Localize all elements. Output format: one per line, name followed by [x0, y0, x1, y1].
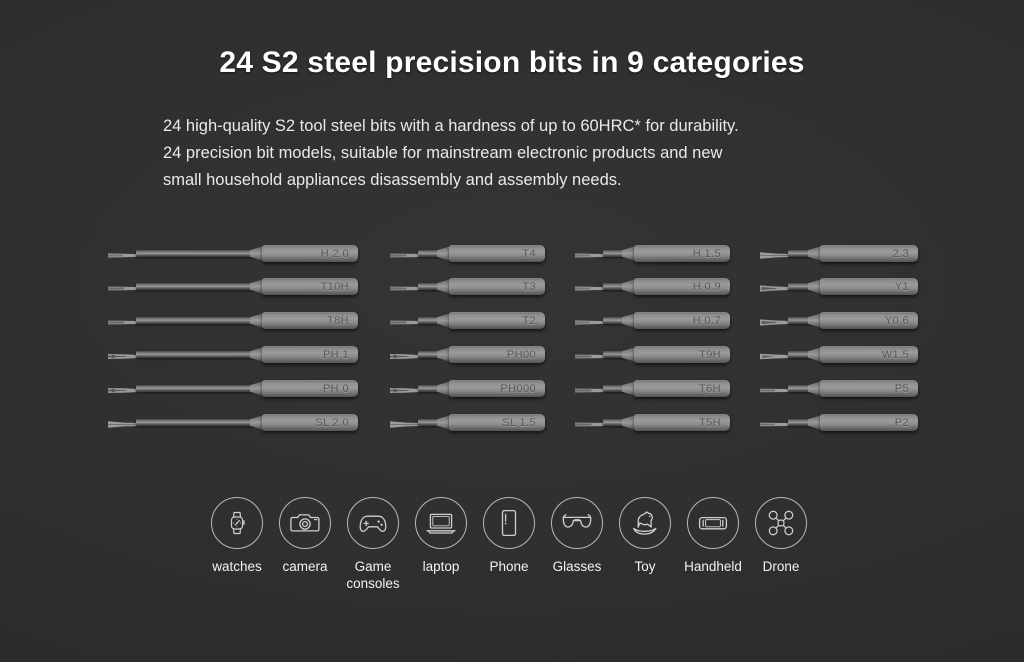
bit-hex-shank: H 2.0: [262, 245, 358, 262]
screwdriver-bit: H 0.7: [575, 312, 730, 329]
screwdriver-bit: T10H: [108, 278, 358, 295]
category-item-camera: camera: [275, 497, 335, 575]
phillips-tip-icon: [390, 383, 420, 394]
bit-hex-shank: T2: [449, 312, 545, 329]
screwdriver-bit: PH 0: [108, 380, 358, 397]
bit-hex-shank: T9H: [634, 346, 730, 363]
category-item-watches: watches: [207, 497, 267, 575]
phillips-tip-icon: [108, 383, 138, 394]
pentalobe-tip-icon: [760, 417, 790, 428]
bit-size-label: T2: [522, 315, 536, 327]
bit-hex-shank: 2.3: [820, 245, 918, 262]
bit-hex-shank: Y0.6: [820, 312, 918, 329]
bit-size-label: Y1: [895, 281, 909, 293]
screwdriver-bit: PH00: [390, 346, 545, 363]
triangle-tip-icon: [760, 349, 790, 360]
bit-hex-shank: SL 2.0: [262, 414, 358, 431]
screwdriver-bit: T8H: [108, 312, 358, 329]
screwdriver-bit: P2: [760, 414, 918, 431]
screwdriver-bit: T6H: [575, 380, 730, 397]
bit-hex-shank: W1.5: [820, 346, 918, 363]
category-label: Glasses: [547, 558, 607, 575]
bit-hex-shank: T4: [449, 245, 545, 262]
bit-size-label: H 1.5: [693, 248, 721, 260]
torx-tip-icon: [575, 349, 605, 360]
bit-size-label: 2.3: [893, 248, 910, 260]
screwdriver-bit: T5H: [575, 414, 730, 431]
description-paragraph: 24 high-quality S2 tool steel bits with …: [163, 113, 893, 194]
screwdriver-bit: 2.3: [760, 245, 918, 262]
bit-size-label: Y0.6: [885, 315, 909, 327]
category-label: Handheld: [683, 558, 743, 575]
category-item-toy: Toy: [615, 497, 675, 575]
screwdriver-bit: PH 1: [108, 346, 358, 363]
category-label: Toy: [615, 558, 675, 575]
bits-grid: H 2.0 T10H T8H PH 1 PH 0 SL 2.0 T4 T3 T2: [0, 228, 1024, 428]
description-line-1: 24 high-quality S2 tool steel bits with …: [163, 113, 893, 140]
bit-size-label: T9H: [699, 349, 721, 361]
bit-hex-shank: PH00: [449, 346, 545, 363]
screwdriver-bit: W1.5: [760, 346, 918, 363]
bit-hex-shank: PH 0: [262, 380, 358, 397]
tri-wing-tip-icon: [760, 315, 790, 326]
torx-tip-icon: [575, 383, 605, 394]
phillips-tip-icon: [390, 349, 420, 360]
tri-wing-tip-icon: [760, 281, 790, 292]
torx-tip-icon: [108, 281, 138, 292]
screwdriver-bit: H 0.9: [575, 278, 730, 295]
drone-icon: [755, 497, 807, 549]
screwdriver-bit: H 1.5: [575, 245, 730, 262]
hex-tip-icon: [575, 248, 605, 259]
screwdriver-bit: P5: [760, 380, 918, 397]
bit-size-label: PH 0: [323, 383, 349, 395]
category-item-handheld: Handheld: [683, 497, 743, 575]
bit-size-label: PH 1: [323, 349, 349, 361]
screwdriver-bit: T2: [390, 312, 545, 329]
gamepad-icon: [347, 497, 399, 549]
camera-icon: [279, 497, 331, 549]
bit-size-label: H 0.7: [693, 315, 721, 327]
screwdriver-bit: PH000: [390, 380, 545, 397]
bit-size-label: PH00: [507, 349, 536, 361]
bit-hex-shank: SL 1.5: [449, 414, 545, 431]
category-label: laptop: [411, 558, 471, 575]
bit-size-label: H 0.9: [693, 281, 721, 293]
bit-size-label: P5: [895, 383, 909, 395]
category-label: Game consoles: [336, 558, 410, 592]
category-label: Phone: [479, 558, 539, 575]
bit-hex-shank: PH 1: [262, 346, 358, 363]
hex-tip-icon: [575, 281, 605, 292]
bit-hex-shank: H 0.9: [634, 278, 730, 295]
bit-size-label: T8H: [327, 315, 349, 327]
torx-tip-icon: [108, 315, 138, 326]
screwdriver-bit: H 2.0: [108, 245, 358, 262]
hex-tip-icon: [108, 248, 138, 259]
bit-hex-shank: H 1.5: [634, 245, 730, 262]
page-title: 24 S2 steel precision bits in 9 categori…: [0, 46, 1024, 80]
pentalobe-tip-icon: [760, 383, 790, 394]
torx-tip-icon: [575, 417, 605, 428]
bit-size-label: T5H: [699, 417, 721, 429]
torx-tip-icon: [390, 248, 420, 259]
category-item-drone: Drone: [751, 497, 811, 575]
bit-size-label: SL 2.0: [315, 417, 349, 429]
hex-tip-icon: [575, 315, 605, 326]
bit-hex-shank: PH000: [449, 380, 545, 397]
description-line-2: 24 precision bit models, suitable for ma…: [163, 140, 893, 167]
category-label: Drone: [751, 558, 811, 575]
screwdriver-bit: SL 2.0: [108, 414, 358, 431]
slotted-tip-icon: [108, 417, 138, 428]
phone-icon: [483, 497, 535, 549]
bit-hex-shank: T6H: [634, 380, 730, 397]
bit-hex-shank: Y1: [820, 278, 918, 295]
phillips-tip-icon: [108, 349, 138, 360]
screwdriver-bit: SL 1.5: [390, 414, 545, 431]
bit-hex-shank: H 0.7: [634, 312, 730, 329]
category-icons-row: watches camera Game consoles laptop Phon…: [0, 497, 1024, 607]
category-label: watches: [207, 558, 267, 575]
screwdriver-bit: Y1: [760, 278, 918, 295]
bit-size-label: SL 1.5: [502, 417, 536, 429]
slotted-tip-icon: [760, 248, 790, 259]
watch-icon: [211, 497, 263, 549]
category-item-phone: Phone: [479, 497, 539, 575]
bit-size-label: T3: [522, 281, 536, 293]
slotted-tip-icon: [390, 417, 420, 428]
torx-tip-icon: [390, 281, 420, 292]
bit-size-label: T10H: [321, 281, 350, 293]
bit-size-label: PH000: [500, 383, 536, 395]
glasses-icon: [551, 497, 603, 549]
screwdriver-bit: T4: [390, 245, 545, 262]
bit-size-label: H 2.0: [321, 248, 349, 260]
rocking-horse-icon: [619, 497, 671, 549]
screwdriver-bit: T3: [390, 278, 545, 295]
screwdriver-bit: Y0.6: [760, 312, 918, 329]
laptop-icon: [415, 497, 467, 549]
bit-size-label: P2: [895, 417, 909, 429]
bit-hex-shank: P2: [820, 414, 918, 431]
bit-hex-shank: T8H: [262, 312, 358, 329]
screwdriver-bit: T9H: [575, 346, 730, 363]
description-line-3: small household appliances disassembly a…: [163, 167, 893, 194]
category-label: camera: [275, 558, 335, 575]
bit-size-label: W1.5: [882, 349, 909, 361]
bit-hex-shank: P5: [820, 380, 918, 397]
category-item-game-consoles: Game consoles: [343, 497, 403, 592]
category-item-laptop: laptop: [411, 497, 471, 575]
torx-tip-icon: [390, 315, 420, 326]
bit-hex-shank: T10H: [262, 278, 358, 295]
bit-size-label: T6H: [699, 383, 721, 395]
handheld-console-icon: [687, 497, 739, 549]
bit-size-label: T4: [522, 248, 536, 260]
bit-hex-shank: T5H: [634, 414, 730, 431]
bit-hex-shank: T3: [449, 278, 545, 295]
category-item-glasses: Glasses: [547, 497, 607, 575]
